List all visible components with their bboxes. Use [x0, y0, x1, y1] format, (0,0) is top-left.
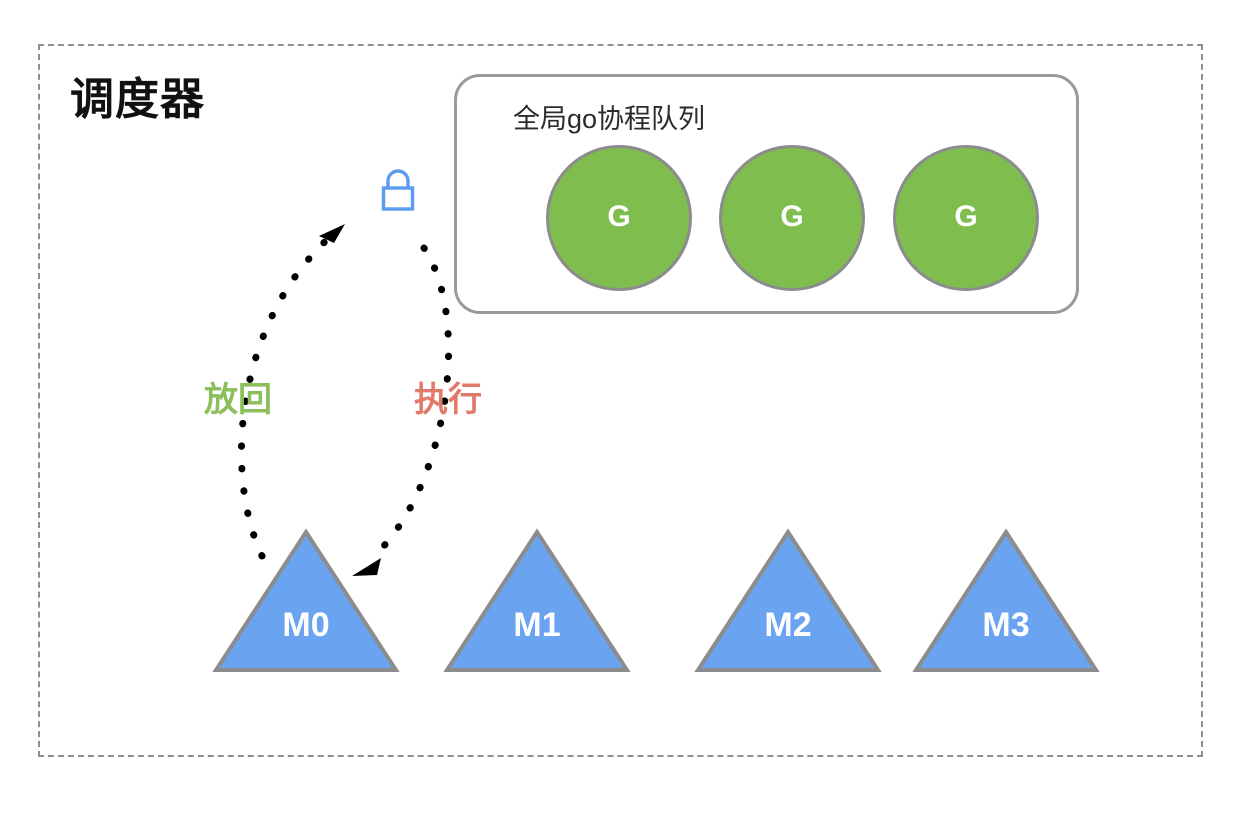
goroutine-node: G	[719, 145, 865, 291]
machine-node-m0: M0	[212, 528, 400, 674]
diagram-canvas: 调度器 全局go协程队列 G G G 放回 执行	[0, 0, 1240, 825]
machine-node-m3: M3	[912, 528, 1100, 674]
goroutine-node: G	[546, 145, 692, 291]
flow-label-execute: 执行	[414, 383, 482, 417]
global-queue-container: 全局go协程队列 G G G	[454, 74, 1079, 314]
flow-label-return: 放回	[204, 383, 272, 417]
machine-node-m1: M1	[443, 528, 631, 674]
goroutine-label: G	[780, 202, 803, 232]
lock-icon	[374, 166, 422, 220]
goroutine-label: G	[954, 202, 977, 232]
machine-node-m2: M2	[694, 528, 882, 674]
goroutine-label: G	[607, 202, 630, 232]
goroutine-node: G	[893, 145, 1039, 291]
global-queue-label: 全局go协程队列	[513, 97, 705, 136]
page-title: 调度器	[70, 74, 205, 127]
